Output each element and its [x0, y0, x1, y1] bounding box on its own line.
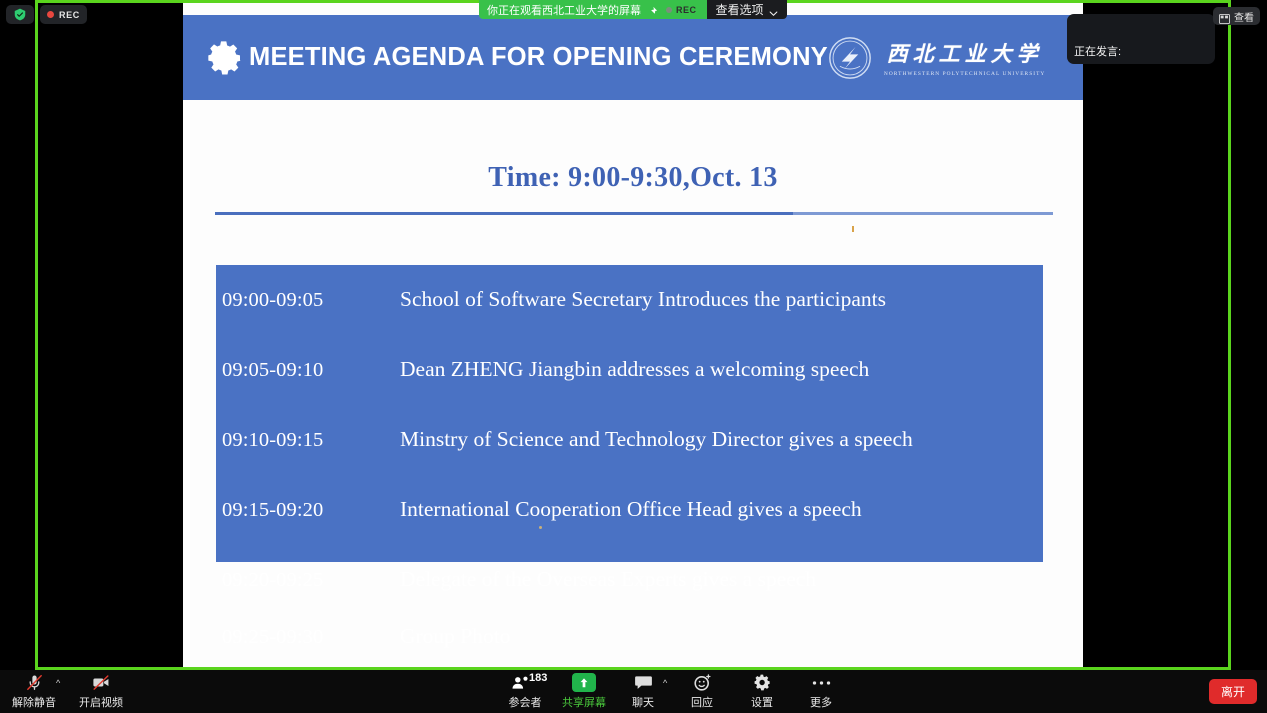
slide-divider — [215, 212, 1053, 215]
gear-icon — [205, 38, 245, 78]
toolbar-more-label: 更多 — [810, 694, 832, 710]
pin-icon[interactable] — [647, 4, 658, 15]
agenda-desc: Minstry of Science and Technology Direct… — [400, 427, 913, 452]
agenda-table: 09:00-09:05 School of Software Secretary… — [216, 265, 1043, 562]
agenda-desc: Delegate of the Overseas Experts gives a… — [400, 567, 816, 592]
agenda-time: 09:25-09:30 — [216, 626, 400, 649]
university-name-cn: 西北工业大学 — [887, 38, 1043, 68]
agenda-time: 09:20-09:25 — [216, 569, 400, 592]
toolbar-participants-button[interactable]: 183 参会者 — [496, 673, 554, 710]
chat-bubble-icon — [634, 673, 653, 692]
record-dot-icon — [47, 11, 54, 18]
grid-view-icon — [1219, 11, 1230, 21]
toolbar-settings-button[interactable]: 设置 — [733, 673, 791, 710]
slide-title: MEETING AGENDA FOR OPENING CEREMONY — [249, 43, 828, 72]
toolbar-reactions-label: 回应 — [691, 694, 713, 710]
agenda-desc: International Cooperation Office Head gi… — [400, 497, 862, 522]
toolbar-more-button[interactable]: 更多 — [792, 673, 850, 710]
agenda-row: 09:10-09:15 Minstry of Science and Techn… — [216, 427, 1043, 452]
banner-rec-label: REC — [676, 5, 697, 15]
toolbar-share-screen-button[interactable]: 共享屏幕 — [555, 673, 613, 710]
university-name-block: 西北工业大学 NORTHWESTERN POLYTECHNICAL UNIVER… — [884, 38, 1045, 77]
chat-options-caret-icon[interactable]: ^ — [663, 678, 667, 688]
row-spacer — [216, 592, 1043, 624]
agenda-desc: Group Photo — [400, 624, 511, 649]
active-speaker-tile[interactable]: 正在发言: — [1067, 14, 1215, 64]
row-spacer — [216, 452, 1043, 497]
chevron-down-icon — [769, 5, 778, 14]
view-options-label: 查看选项 — [716, 1, 764, 18]
toolbar-video-button[interactable]: 开启视频 — [72, 673, 130, 710]
toolbar-chat-label: 聊天 — [632, 694, 654, 710]
ellipsis-icon — [811, 673, 832, 692]
agenda-row: 09:05-09:10 Dean ZHENG Jiangbin addresse… — [216, 357, 1043, 382]
slide-header: MEETING AGENDA FOR OPENING CEREMONY 西北工业… — [183, 15, 1083, 100]
slide-artifact-dot — [539, 526, 542, 529]
toolbar-settings-label: 设置 — [751, 694, 773, 710]
toolbar-mute-button[interactable]: 解除静音 — [5, 673, 63, 710]
share-banner-message: 你正在观看西北工业大学的屏幕 — [487, 2, 641, 18]
view-layout-label: 查看 — [1234, 9, 1254, 24]
record-dot-icon — [666, 7, 672, 13]
screen-share-banner: 你正在观看西北工业大学的屏幕 REC 查看选项 — [479, 0, 787, 19]
agenda-time: 09:15-09:20 — [216, 499, 400, 522]
toolbar-video-label: 开启视频 — [79, 694, 123, 710]
rec-label: REC — [59, 10, 80, 20]
banner-rec-indicator: REC — [666, 0, 707, 19]
slide-artifact-mark — [852, 226, 854, 232]
smiley-plus-icon — [693, 673, 712, 692]
microphone-muted-icon — [25, 673, 44, 692]
share-banner-message-area: 你正在观看西北工业大学的屏幕 — [479, 0, 666, 19]
agenda-time: 09:00-09:05 — [216, 289, 400, 312]
row-spacer — [216, 522, 1043, 567]
agenda-desc: School of Software Secretary Introduces … — [400, 287, 886, 312]
gear-icon — [753, 673, 772, 692]
meeting-toolbar: 解除静音 ^ 开启视频 183 参会者 — [0, 670, 1267, 713]
agenda-row: 09:15-09:20 International Cooperation Of… — [216, 497, 1043, 522]
toolbar-share-label: 共享屏幕 — [562, 694, 606, 710]
security-shield-badge[interactable] — [6, 5, 34, 24]
leave-meeting-button[interactable]: 离开 — [1209, 679, 1257, 704]
agenda-row: 09:20-09:25 Delegate of the Overseas Exp… — [216, 567, 1043, 592]
agenda-time: 09:05-09:10 — [216, 359, 400, 382]
share-screen-icon — [572, 673, 596, 692]
university-name-en: NORTHWESTERN POLYTECHNICAL UNIVERSITY — [884, 71, 1045, 77]
agenda-row: 09:00-09:05 School of Software Secretary… — [216, 287, 1043, 312]
toolbar-reactions-button[interactable]: 回应 — [673, 673, 731, 710]
agenda-time: 09:10-09:15 — [216, 429, 400, 452]
toolbar-mute-label: 解除静音 — [12, 694, 56, 710]
agenda-row: 09:25-09:30 Group Photo — [216, 624, 1043, 649]
shared-screen-slide: MEETING AGENDA FOR OPENING CEREMONY 西北工业… — [183, 0, 1083, 670]
zoom-meeting-window: MEETING AGENDA FOR OPENING CEREMONY 西北工业… — [0, 0, 1267, 713]
university-logo: 西北工业大学 NORTHWESTERN POLYTECHNICAL UNIVER… — [828, 36, 1077, 80]
slide-header-left: MEETING AGENDA FOR OPENING CEREMONY — [205, 38, 828, 78]
video-off-icon — [91, 673, 111, 692]
agenda-desc: Dean ZHENG Jiangbin addresses a welcomin… — [400, 357, 869, 382]
mute-options-caret-icon[interactable]: ^ — [56, 678, 60, 688]
nwpu-emblem-icon — [828, 36, 872, 80]
view-options-button[interactable]: 查看选项 — [707, 0, 787, 19]
rec-badge[interactable]: REC — [40, 5, 87, 24]
active-speaker-label: 正在发言: — [1074, 43, 1121, 59]
recording-indicator-group: REC — [6, 5, 87, 24]
row-spacer — [216, 382, 1043, 427]
view-layout-button[interactable]: 查看 — [1213, 7, 1260, 25]
slide-time-heading: Time: 9:00-9:30,Oct. 13 — [183, 162, 1083, 194]
participants-count: 183 — [529, 672, 547, 684]
row-spacer — [216, 312, 1043, 357]
shield-check-icon — [13, 7, 27, 22]
toolbar-participants-label: 参会者 — [509, 694, 542, 710]
